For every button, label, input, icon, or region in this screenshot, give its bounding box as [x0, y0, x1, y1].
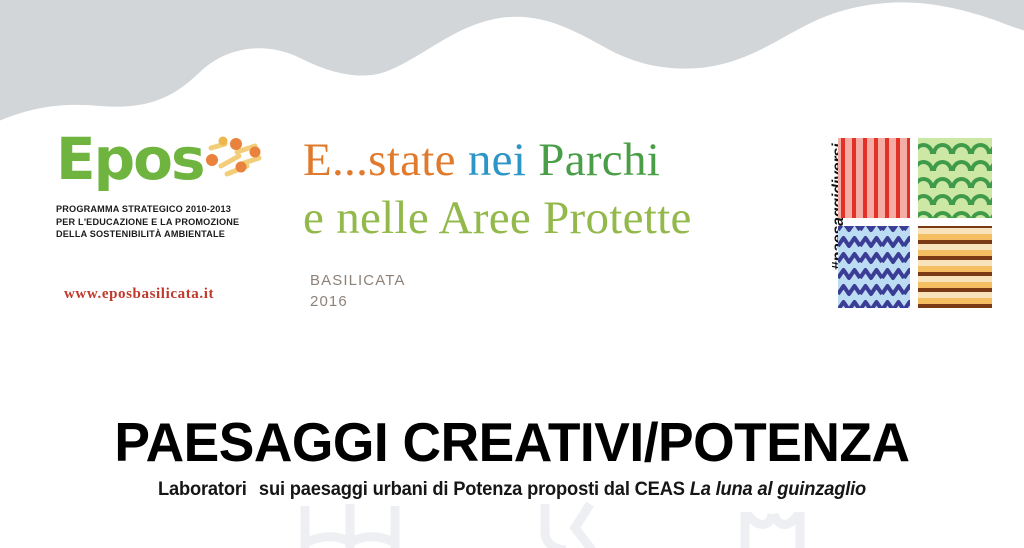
epos-logo-block: Epos PROGRAMMA STRATEGICO 2010-2013 PER …	[56, 136, 296, 242]
region-name: BASILICATA	[310, 270, 405, 291]
castle-bridge-icon	[745, 512, 800, 548]
ceas-name: La luna al guinzaglio	[690, 478, 866, 500]
headline-line-2: e nelle Aree Protette	[303, 190, 823, 248]
headline-block: E...state nei Parchi e nelle Aree Protet…	[303, 132, 823, 248]
epos-sparkle-icon	[181, 136, 266, 186]
main-subtitle-body: sui paesaggi urbani di Potenza proposti …	[259, 478, 685, 500]
main-subtitle: Laboratorisui paesaggi urbani di Potenza…	[31, 478, 994, 501]
person-icon	[545, 504, 592, 548]
headline-part-nei: nei	[468, 134, 526, 186]
headline-part-estate: E...state	[303, 134, 456, 186]
epos-tagline-line-3: DELLA SOSTENIBILITÀ AMBIENTALE	[56, 229, 286, 242]
main-title: PAESAGGI CREATIVI/POTENZA	[15, 410, 1008, 474]
edition-year: 2016	[310, 291, 405, 312]
open-book-icon	[305, 504, 395, 548]
epos-tagline-line-2: PER L'EDUCAZIONE E LA PROMOZIONE	[56, 217, 286, 230]
paesaggidiversi-badge: #paesaggidiversi	[806, 138, 992, 310]
epos-website-url[interactable]: www.eposbasilicata.it	[64, 286, 214, 303]
epos-tagline-line-1: PROGRAMMA STRATEGICO 2010-2013	[56, 204, 286, 217]
epos-tagline: PROGRAMMA STRATEGICO 2010-2013 PER L'EDU…	[56, 204, 286, 242]
headline-part-parchi: Parchi	[538, 134, 660, 186]
epos-wordmark: Epos	[56, 136, 266, 198]
main-subtitle-prefix: Laboratori	[158, 478, 247, 500]
poster-root: Epos PROGRAMMA STRATEGICO 2010-2013 PER …	[0, 0, 1024, 548]
watermark-icon-row	[0, 498, 1024, 548]
headline-line-1: E...state nei Parchi	[303, 132, 823, 190]
wave-ribbon-decoration	[0, 0, 1024, 135]
region-year-block: BASILICATA 2016	[310, 270, 405, 313]
paesaggidiversi-pattern-grid	[838, 138, 992, 308]
